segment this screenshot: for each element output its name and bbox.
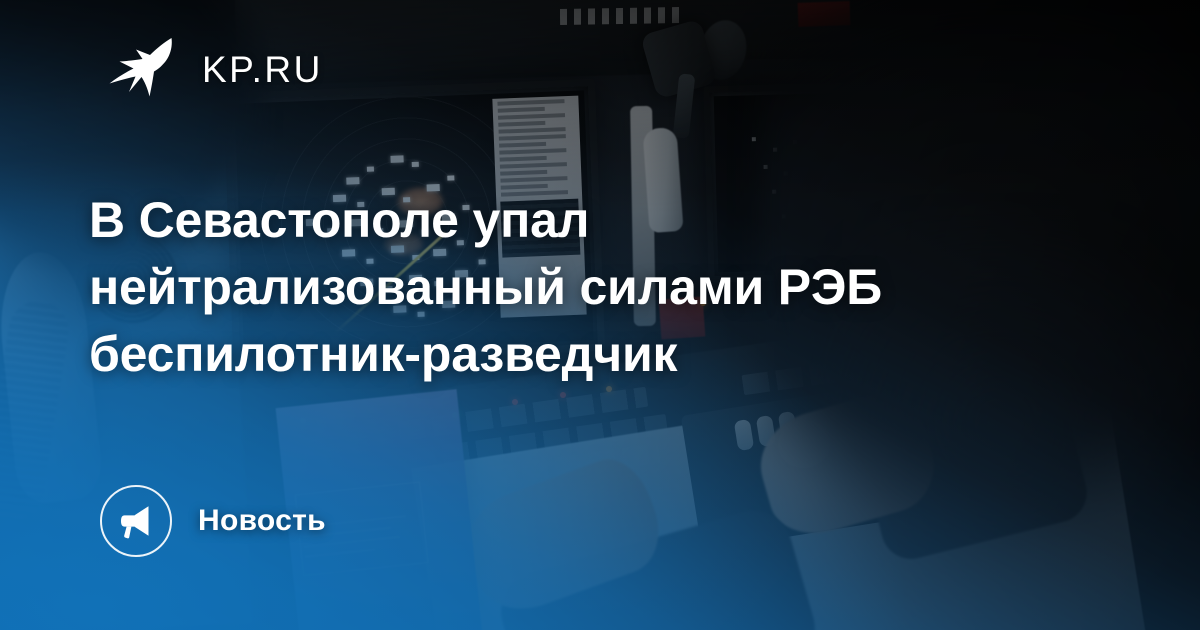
brand-lockup[interactable]: KP.RU: [106, 36, 323, 102]
brand-name: KP.RU: [202, 51, 323, 88]
swallow-bird-icon: [106, 36, 184, 102]
status-badge-label: Новость: [198, 504, 326, 538]
card-content: KP.RU В Севастополе упал нейтрализованны…: [0, 0, 1200, 630]
news-share-card: KP.RU В Севастополе упал нейтрализованны…: [0, 0, 1200, 630]
megaphone-icon: [100, 485, 172, 557]
status-badge[interactable]: Новость: [100, 485, 326, 557]
page-title: В Севастополе упал нейтрализованный сила…: [89, 187, 1089, 388]
